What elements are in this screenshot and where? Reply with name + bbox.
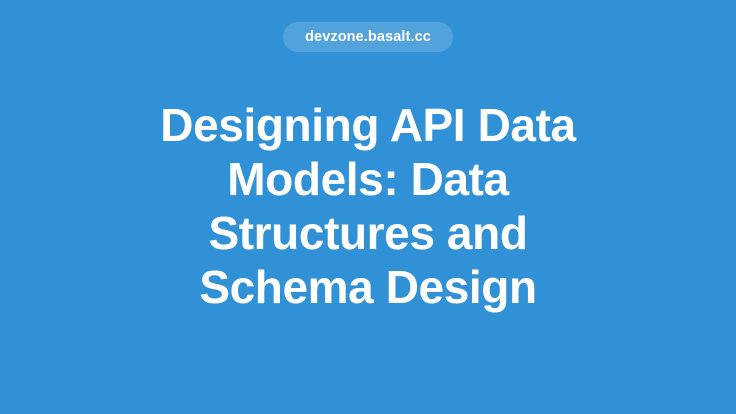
title-line-1: Designing API Data [88, 98, 648, 152]
domain-badge: devzone.basalt.cc [283, 22, 453, 52]
hero-card: devzone.basalt.cc Designing API Data Mod… [0, 0, 736, 414]
title-line-4: Schema Design [88, 260, 648, 314]
domain-badge-label: devzone.basalt.cc [305, 30, 431, 45]
title-line-2: Models: Data [88, 152, 648, 206]
title-line-3: Structures and [88, 206, 648, 260]
page-title: Designing API Data Models: Data Structur… [88, 98, 648, 314]
